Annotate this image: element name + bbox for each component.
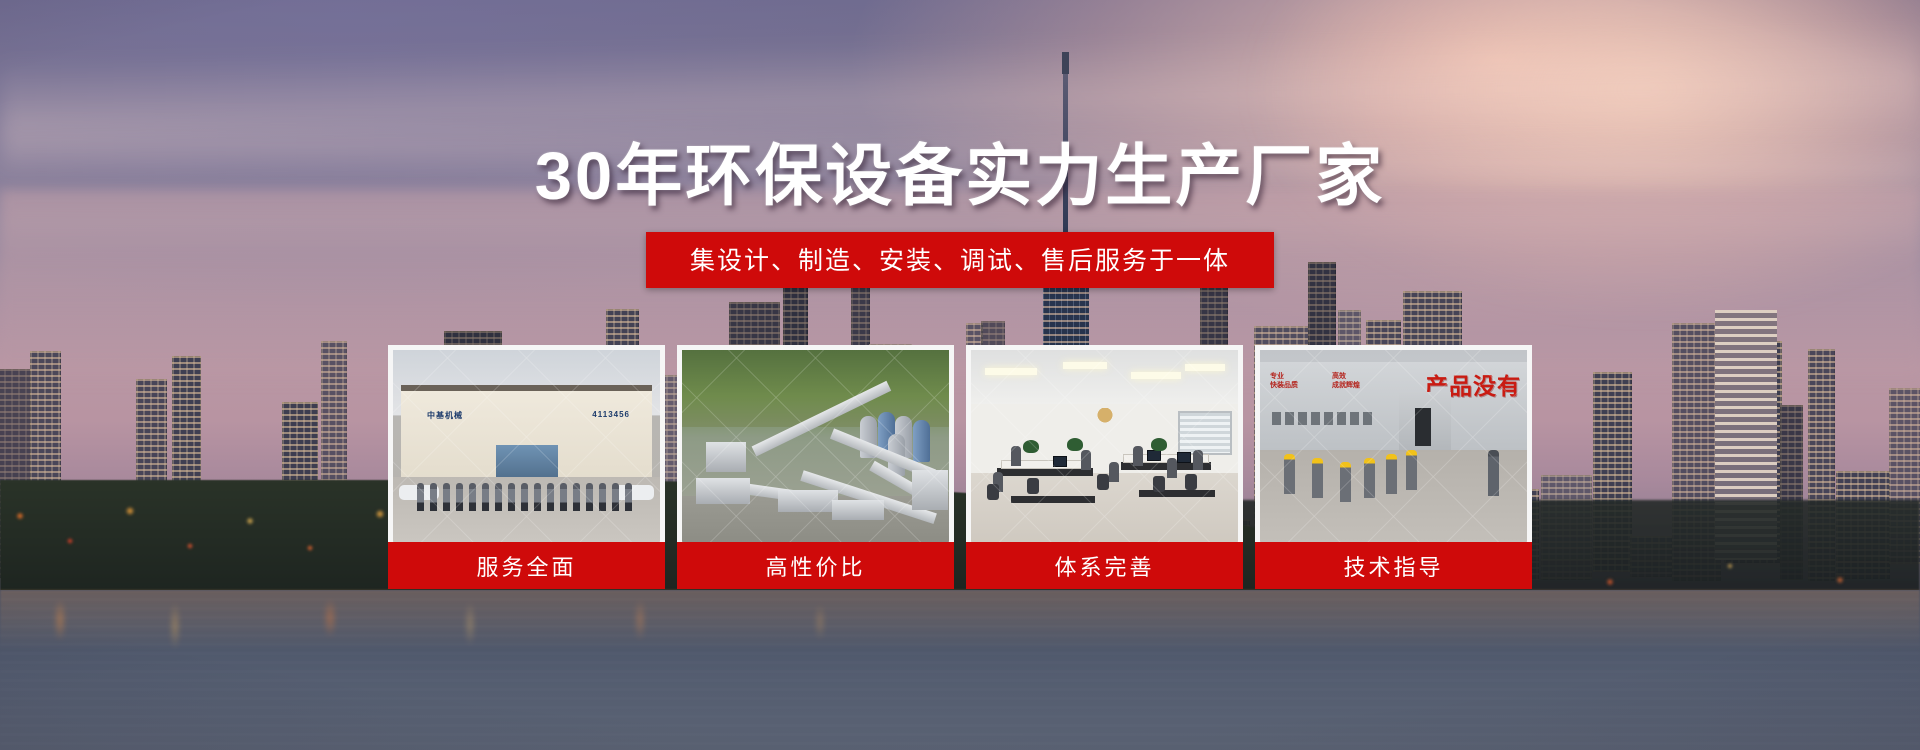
card-label: 体系完善 [966,542,1243,589]
card-label: 服务全面 [388,542,665,589]
photo-person [495,483,502,511]
photo-person [625,483,632,511]
headquarters-photo: 中基机械 4113456 [393,350,660,542]
factory-window [1298,412,1307,425]
photo-person [469,483,476,511]
photo-person [547,483,554,511]
office-chair [987,484,999,500]
banner-headline: 30年环保设备实力生产厂家 [0,122,1920,219]
card-photo-frame: 产品没有 专业快装品质 高效成就辉煌 [1255,345,1532,542]
photo-person [508,483,515,511]
card-photo-frame [677,345,954,542]
worker-with-helmet [1340,462,1351,502]
plant-building [912,470,948,510]
banner-subtitle-bar: 集设计、制造、安装、调试、售后服务于一体 [646,232,1274,288]
banner-content: 30年环保设备实力生产厂家 集设计、制造、安装、调试、售后服务于一体 中基机械 … [0,0,1920,750]
card-label: 高性价比 [677,542,954,589]
office-desk [1011,496,1095,503]
factory-window [1272,412,1281,425]
potted-plant [1023,440,1039,453]
office-chair [1027,478,1039,494]
factory-window [1337,412,1346,425]
factory-window [1324,412,1333,425]
photo-person [534,483,541,511]
office-desk [997,468,1093,476]
factory-workers-photo: 产品没有 专业快装品质 高效成就辉煌 [1260,350,1527,542]
plant-silo [913,420,930,462]
photo-person [521,483,528,511]
computer-monitor [1053,456,1067,467]
feature-card[interactable]: 中基机械 4113456 服务全面 [388,345,665,589]
feature-card[interactable]: 体系完善 [966,345,1243,589]
ceiling-light [1131,372,1181,379]
photo-person [482,483,489,511]
computer-monitor [1147,450,1161,461]
office-chair [1097,474,1109,490]
plant-building [706,442,746,472]
office-interior-photo [971,350,1238,542]
worker-with-helmet [1312,458,1323,498]
office-desk [1139,490,1215,497]
office-worker [1081,450,1091,470]
feature-card[interactable]: 产品没有 专业快装品质 高效成就辉煌 技术指导 [1255,345,1532,589]
factory-wall-slogan: 专业快装品质 [1270,372,1298,390]
office-worker [1011,446,1021,466]
photo-person [573,483,580,511]
photo-person [456,483,463,511]
industrial-plant-photo [682,350,949,542]
factory-window [1363,412,1372,425]
office-worker [1109,462,1119,482]
card-photo-frame: 中基机械 4113456 [388,345,665,542]
feature-card[interactable]: 高性价比 [677,345,954,589]
plant-building [832,500,884,520]
photo-person [612,483,619,511]
card-label: 技术指导 [1255,542,1532,589]
worker-with-helmet [1406,450,1417,490]
office-chair [1153,476,1165,492]
photo-person [417,483,424,511]
feature-card-list: 中基机械 4113456 服务全面 [388,345,1532,589]
photo-person [599,483,606,511]
office-worker [1193,450,1203,470]
photo-person [586,483,593,511]
ceiling-light [1185,364,1225,371]
building-company-sign: 中基机械 [427,410,463,421]
worker-with-helmet [1386,454,1397,494]
worker-with-helmet [1284,454,1295,494]
factory-window [1311,412,1320,425]
office-chair [1185,474,1197,490]
factory-wall-slogan: 高效成就辉煌 [1332,372,1360,390]
office-worker [1133,446,1143,466]
factory-window [1285,412,1294,425]
plant-building [696,478,750,504]
photo-person [430,483,437,511]
ceiling-light [985,368,1037,375]
hero-banner: 30年环保设备实力生产厂家 集设计、制造、安装、调试、售后服务于一体 中基机械 … [0,0,1920,750]
worker-with-helmet [1364,458,1375,498]
factory-window [1350,412,1359,425]
photo-person [443,483,450,511]
building-phone-number: 4113456 [592,410,630,419]
photo-person [560,483,567,511]
supervisor [1488,450,1499,496]
card-photo-frame [966,345,1243,542]
plant-building [778,490,838,512]
ceiling-light [1063,362,1107,369]
potted-plant [1151,438,1167,451]
potted-plant [1067,438,1083,451]
computer-monitor [1177,452,1191,463]
office-worker [1167,458,1177,478]
